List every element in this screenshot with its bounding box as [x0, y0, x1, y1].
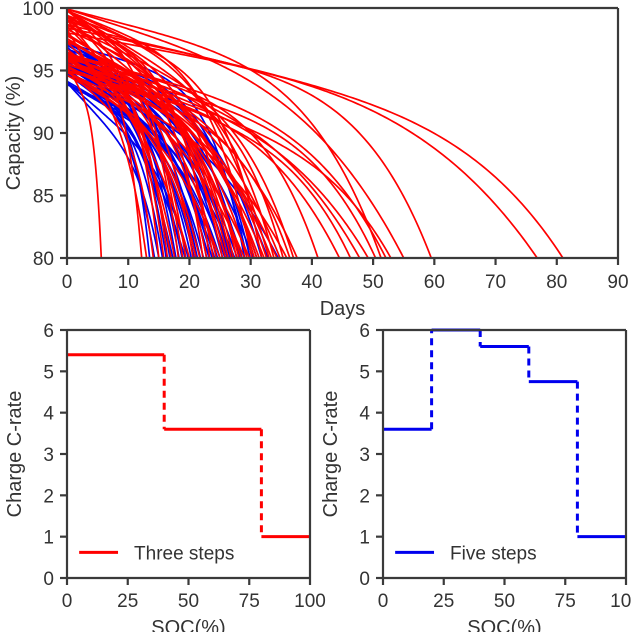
y-tick-label: 6: [43, 321, 54, 342]
y-tick-label: 1: [43, 528, 54, 549]
axes-frame: [383, 330, 626, 578]
figure-canvas: 010203040506070809080859095100DaysCapaci…: [0, 0, 632, 632]
x-tick-label: 75: [555, 591, 576, 612]
x-tick-label: 30: [240, 272, 261, 293]
x-tick-label: 70: [485, 272, 506, 293]
step-profile: [67, 355, 310, 537]
x-tick-label: 80: [546, 272, 567, 293]
x-ticks: 0102030405060708090: [62, 258, 629, 293]
y-tick-label: 4: [43, 404, 54, 425]
x-tick-label: 0: [62, 272, 73, 293]
y-ticks: 0123456: [359, 321, 383, 590]
legend-label: Three steps: [134, 543, 234, 564]
y-ticks: 0123456: [43, 321, 67, 590]
x-ticks: 0255075100: [62, 578, 326, 612]
x-axis-label: SOC(%): [151, 617, 225, 632]
capacity-degradation-panel: 010203040506070809080859095100DaysCapaci…: [0, 0, 632, 316]
curves-group: [67, 8, 563, 258]
y-tick-label: 2: [359, 486, 370, 507]
y-axis-label: Charge C-rate: [320, 391, 342, 518]
y-tick-label: 3: [43, 445, 54, 466]
step-profile: [383, 330, 626, 537]
x-tick-label: 90: [607, 272, 628, 293]
x-axis-label: SOC(%): [467, 617, 541, 632]
y-tick-label: 2: [43, 486, 54, 507]
x-tick-label: 0: [62, 591, 73, 612]
y-tick-label: 95: [33, 62, 54, 83]
x-tick-label: 75: [239, 591, 260, 612]
y-tick-label: 100: [22, 0, 54, 20]
x-tick-label: 10: [118, 272, 139, 293]
y-tick-label: 5: [43, 362, 54, 383]
x-tick-label: 100: [610, 591, 632, 612]
y-tick-label: 80: [33, 249, 54, 270]
x-tick-label: 50: [178, 591, 199, 612]
y-tick-label: 1: [359, 528, 370, 549]
three-step-protocol-plot: 02550751000123456SOC(%)Charge C-rateThre…: [0, 316, 316, 632]
y-axis-label: Charge C-rate: [4, 391, 26, 518]
y-tick-label: 6: [359, 321, 370, 342]
x-tick-label: 0: [378, 591, 389, 612]
legend-label: Five steps: [450, 543, 537, 564]
five-step-protocol-panel: 02550751000123456SOC(%)Charge C-rateFive…: [316, 316, 632, 632]
x-tick-label: 20: [179, 272, 200, 293]
x-tick-label: 25: [117, 591, 138, 612]
x-tick-label: 50: [363, 272, 384, 293]
legend[interactable]: Five steps: [395, 543, 536, 564]
x-tick-label: 60: [424, 272, 445, 293]
x-tick-label: 40: [301, 272, 322, 293]
axes-frame: [67, 330, 310, 578]
legend[interactable]: Three steps: [79, 543, 234, 564]
three-step-protocol-panel: 02550751000123456SOC(%)Charge C-rateThre…: [0, 316, 316, 632]
y-tick-label: 3: [359, 445, 370, 466]
y-tick-label: 5: [359, 362, 370, 383]
y-tick-label: 4: [359, 404, 370, 425]
y-tick-label: 0: [359, 569, 370, 590]
y-ticks: 80859095100: [22, 0, 67, 270]
x-tick-label: 25: [433, 591, 454, 612]
y-tick-label: 0: [43, 569, 54, 590]
series-three-steps: [67, 8, 563, 258]
five-step-protocol-plot: 02550751000123456SOC(%)Charge C-rateFive…: [316, 316, 632, 632]
x-tick-label: 50: [494, 591, 515, 612]
y-axis-label: Capacity (%): [3, 76, 25, 190]
y-tick-label: 90: [33, 124, 54, 145]
x-ticks: 0255075100: [378, 578, 632, 612]
capacity-degradation-plot: 010203040506070809080859095100DaysCapaci…: [0, 0, 632, 316]
y-tick-label: 85: [33, 187, 54, 208]
